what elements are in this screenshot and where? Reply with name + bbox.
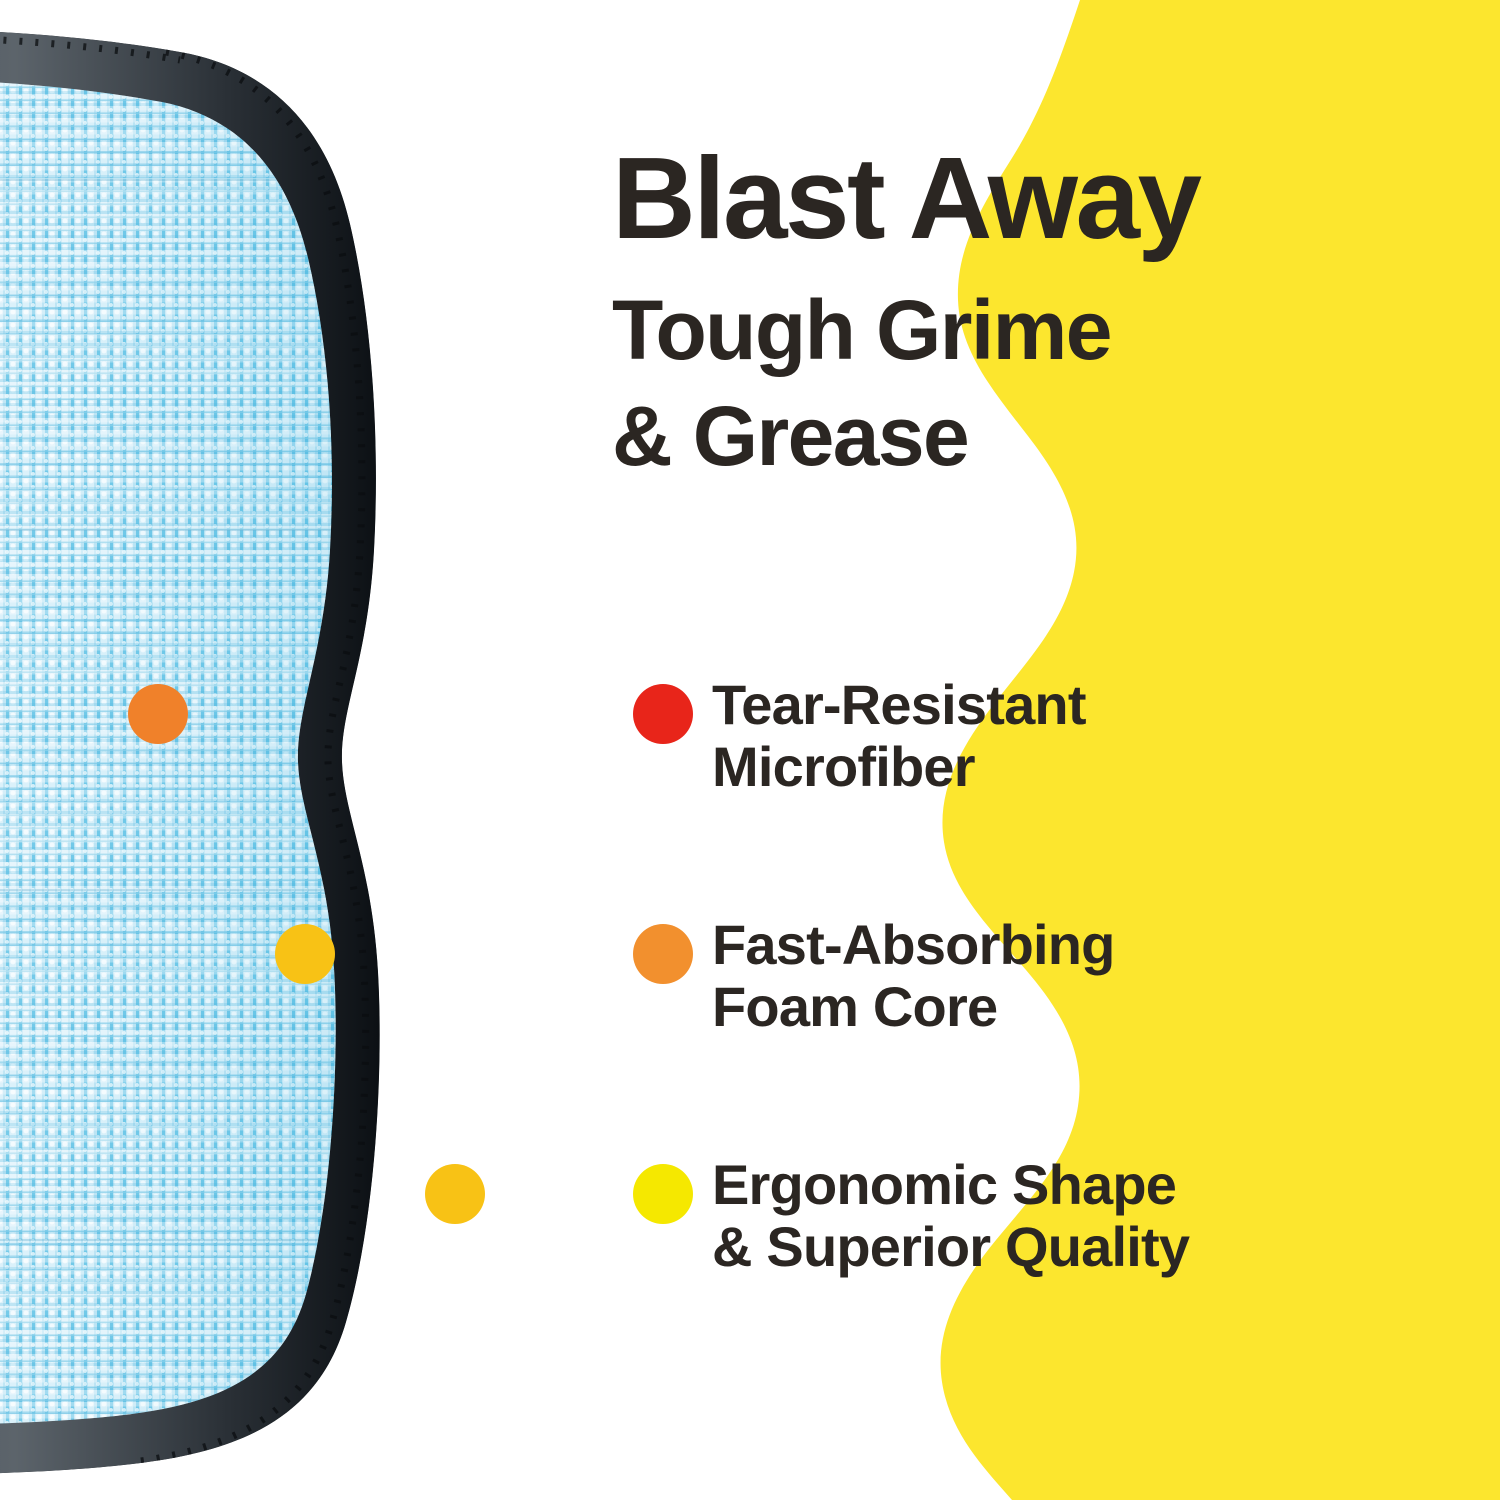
feature-label-fast-absorbing-foam-core: Fast-Absorbing Foam Core xyxy=(712,914,1115,1038)
marker-dot-right-1 xyxy=(633,924,693,984)
marker-dot-left-1 xyxy=(275,924,335,984)
feature-label-ergonomic-shape-superior-quality: Ergonomic Shape & Superior Quality xyxy=(712,1154,1189,1278)
infographic-canvas: Blast Away Tough Grime & Grease xyxy=(0,0,1500,1500)
connector-2 xyxy=(425,1164,693,1224)
connector-1 xyxy=(275,924,693,984)
feature-label-tear-resistant-microfiber: Tear-Resistant Microfiber xyxy=(712,674,1086,798)
connector-0 xyxy=(128,684,693,744)
marker-dot-right-0 xyxy=(633,684,693,744)
marker-dot-left-2 xyxy=(425,1164,485,1224)
marker-dot-left-0 xyxy=(128,684,188,744)
marker-dot-right-2 xyxy=(633,1164,693,1224)
